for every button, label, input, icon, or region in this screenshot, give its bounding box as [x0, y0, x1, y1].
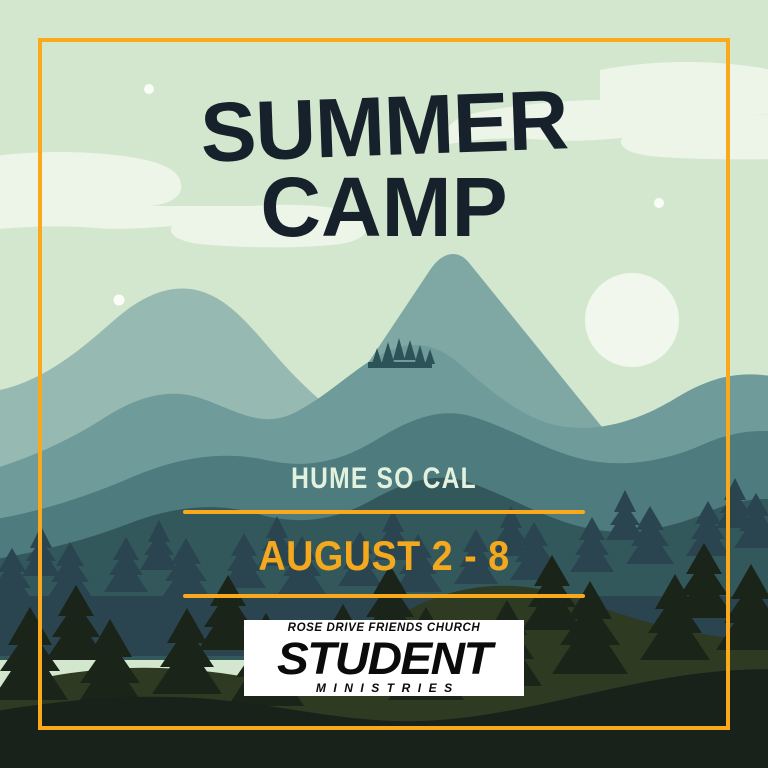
headline-line-1: SUMMER [0, 74, 768, 179]
organization-logo: ROSE DRIVE FRIENDS CHURCH STUDENT MINIST… [244, 620, 524, 696]
page-title: SUMMER CAMP [0, 88, 768, 247]
bottom-fill [0, 726, 768, 768]
event-details: HUME SO CAL AUGUST 2 - 8 [0, 462, 768, 598]
summer-camp-poster: SUMMER CAMP HUME SO CAL AUGUST 2 - 8 ROS… [0, 0, 768, 768]
event-dates: AUGUST 2 - 8 [38, 532, 729, 580]
event-location: HUME SO CAL [69, 462, 699, 496]
divider-top [183, 510, 585, 514]
headline-line-2: CAMP [0, 169, 768, 246]
moon [585, 273, 679, 367]
divider-bottom [183, 594, 585, 598]
star [114, 295, 125, 306]
logo-primary-text: STUDENT [277, 636, 491, 681]
